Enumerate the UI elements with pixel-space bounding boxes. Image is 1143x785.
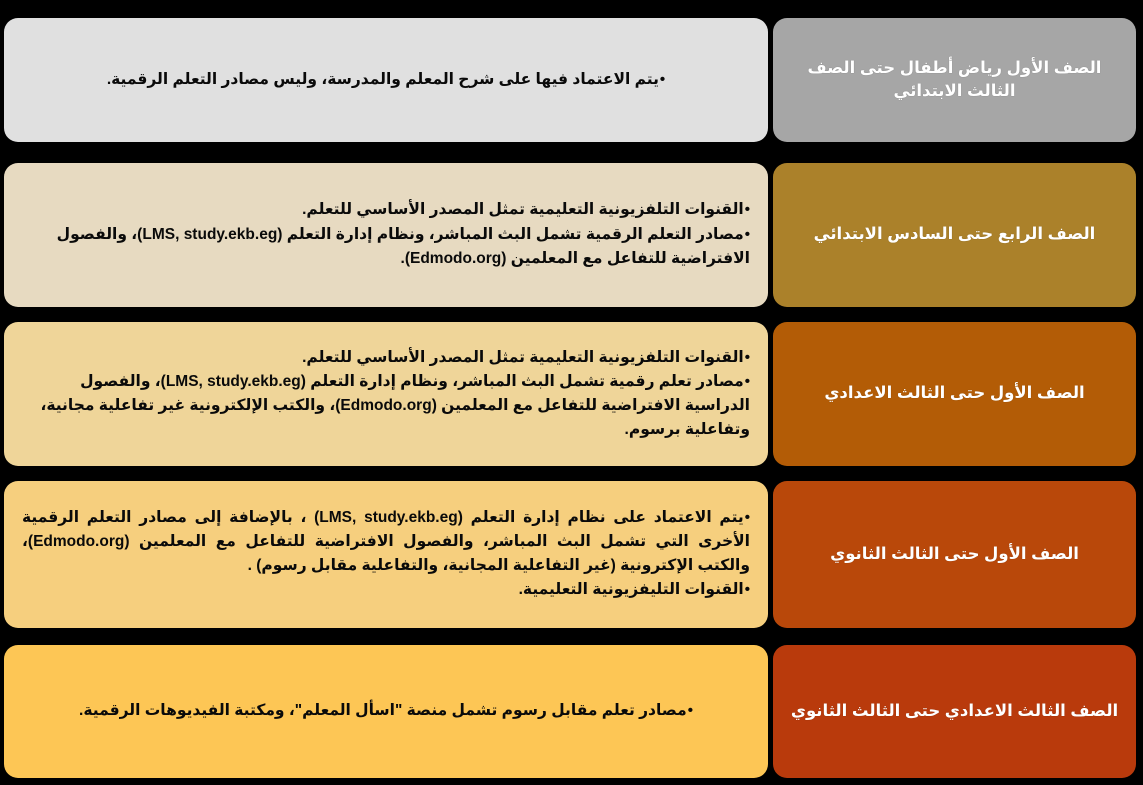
bullet-list-1: يتم الاعتماد فيها على شرح المعلم والمدرس… (22, 68, 750, 93)
grade-level-label: الصف الرابع حتى السادس الابتدائي (814, 223, 1096, 246)
list-item: القنوات التليفزيونية التعليمية. (22, 578, 750, 602)
row-label-cell-3: الصف الأول حتى الثالث الاعدادي (773, 322, 1136, 466)
row-label-cell-2: الصف الرابع حتى السادس الابتدائي (773, 163, 1136, 307)
table-row: مصادر تعلم مقابل رسوم تشمل منصة "اسأل ال… (0, 645, 1143, 778)
row-content-cell-4: يتم الاعتماد على نظام إدارة التعلم (LMS,… (4, 481, 768, 628)
list-item: القنوات التلفزيونية التعليمية تمثل المصد… (22, 198, 750, 222)
bullet-list-2: القنوات التلفزيونية التعليمية تمثل المصد… (22, 198, 750, 271)
list-item: يتم الاعتماد على نظام إدارة التعلم (LMS,… (22, 506, 750, 577)
bullet-list-5: مصادر تعلم مقابل رسوم تشمل منصة "اسأل ال… (22, 699, 750, 724)
bullet-list-3: القنوات التلفزيونية التعليمية تمثل المصد… (22, 346, 750, 443)
row-label-cell-4: الصف الأول حتى الثالث الثانوي (773, 481, 1136, 628)
bullet-list-4: يتم الاعتماد على نظام إدارة التعلم (LMS,… (22, 506, 750, 603)
table-row: يتم الاعتماد فيها على شرح المعلم والمدرس… (0, 18, 1143, 142)
list-item: مصادر تعلم مقابل رسوم تشمل منصة "اسأل ال… (22, 699, 750, 723)
table-row: القنوات التلفزيونية التعليمية تمثل المصد… (0, 322, 1143, 466)
table-row: يتم الاعتماد على نظام إدارة التعلم (LMS,… (0, 481, 1143, 628)
list-item: القنوات التلفزيونية التعليمية تمثل المصد… (22, 346, 750, 370)
row-label-cell-1: الصف الأول رياض أطفال حتى الصف الثالث ال… (773, 18, 1136, 142)
list-item: مصادر تعلم رقمية تشمل البث المباشر، ونظا… (22, 370, 750, 441)
list-item: مصادر التعلم الرقمية تشمل البث المباشر، … (22, 223, 750, 270)
grade-level-label: الصف الثالث الاعدادي حتى الثالث الثانوي (791, 700, 1118, 723)
list-item: يتم الاعتماد فيها على شرح المعلم والمدرس… (22, 68, 750, 92)
row-content-cell-5: مصادر تعلم مقابل رسوم تشمل منصة "اسأل ال… (4, 645, 768, 778)
grade-level-label: الصف الأول حتى الثالث الاعدادي (824, 382, 1084, 405)
row-label-cell-5: الصف الثالث الاعدادي حتى الثالث الثانوي (773, 645, 1136, 778)
grade-level-label: الصف الأول حتى الثالث الثانوي (830, 543, 1079, 566)
row-content-cell-2: القنوات التلفزيونية التعليمية تمثل المصد… (4, 163, 768, 307)
diagram-canvas: يتم الاعتماد فيها على شرح المعلم والمدرس… (0, 0, 1143, 785)
table-row: القنوات التلفزيونية التعليمية تمثل المصد… (0, 163, 1143, 307)
row-content-cell-3: القنوات التلفزيونية التعليمية تمثل المصد… (4, 322, 768, 466)
grade-level-label: الصف الأول رياض أطفال حتى الصف الثالث ال… (789, 57, 1120, 104)
row-content-cell-1: يتم الاعتماد فيها على شرح المعلم والمدرس… (4, 18, 768, 142)
